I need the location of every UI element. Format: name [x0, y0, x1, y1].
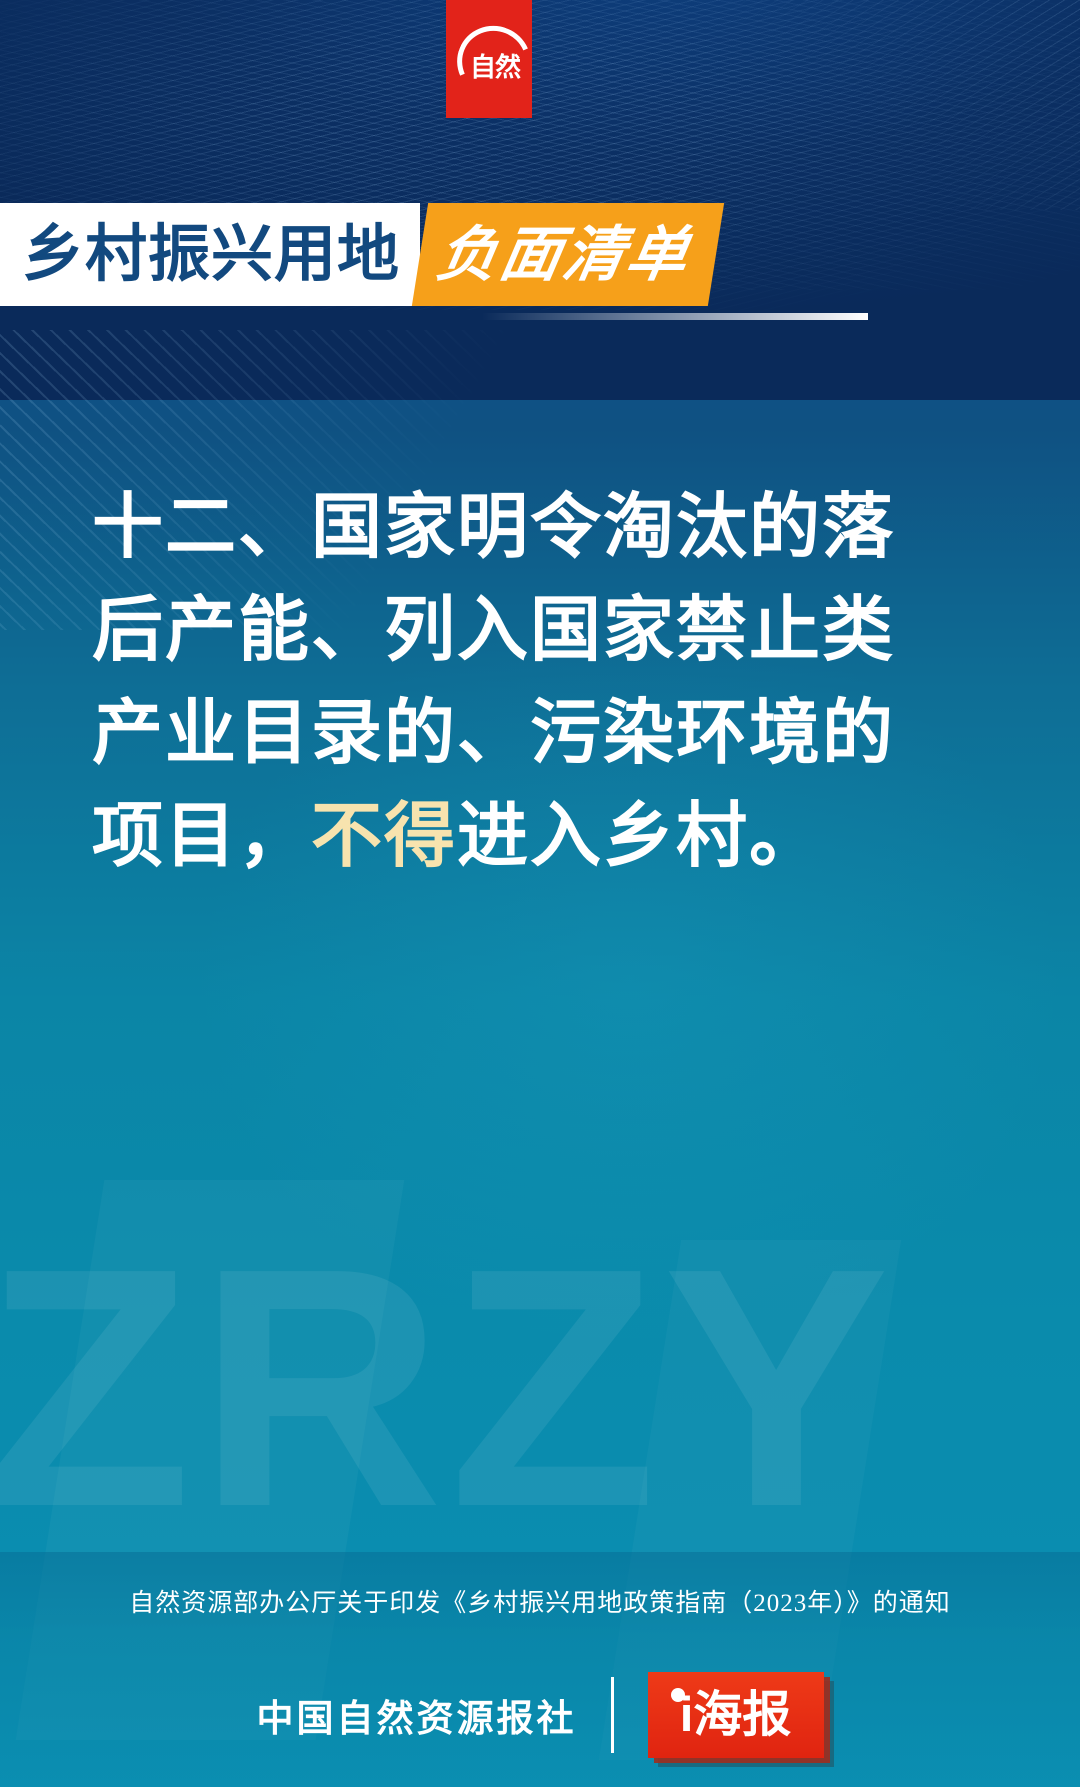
body-line-4-highlight: 不得	[311, 797, 457, 876]
i-ziran-logo: i 自然	[446, 0, 532, 118]
title-accent-block: 负面清单	[412, 203, 724, 306]
hatch-texture-top-right	[700, 0, 1080, 210]
body-line-4-post: 进入乡村。	[457, 797, 822, 876]
title-accent-text: 负面清单	[433, 225, 696, 285]
body-paragraph: 十二、国家明令淘汰的落 后产能、列入国家禁止类 产业目录的、污染环境的 项目，不…	[92, 476, 942, 888]
zrzy-watermark: ZRZY	[0, 1218, 1080, 1558]
title-main-text: 乡村振兴用地	[22, 224, 400, 286]
logo-globe-dot-icon	[671, 1688, 685, 1702]
body-line-4: 项目，不得进入乡村。	[92, 785, 942, 888]
poster-title: 乡村振兴用地 负面清单	[0, 203, 708, 306]
body-line-2: 后产能、列入国家禁止类	[92, 579, 942, 682]
logo-red-box: i海报	[648, 1672, 824, 1758]
i-haibao-logo: i海报	[648, 1672, 824, 1758]
body-line-3: 产业目录的、污染环境的	[92, 682, 942, 785]
logo-haibao-text: i海报	[680, 1691, 792, 1740]
source-caption: 自然资源部办公厅关于印发《乡村振兴用地政策指南（2023年）》的通知	[0, 1583, 1080, 1619]
publisher-name: 中国自然资源报社	[257, 1688, 577, 1742]
body-line-1: 十二、国家明令淘汰的落	[92, 476, 942, 579]
brand-divider	[611, 1677, 614, 1753]
footer-brand-row: 中国自然资源报社 i海报	[0, 1672, 1080, 1758]
title-underline-bar	[482, 313, 868, 320]
logo-i-char: i	[458, 55, 461, 70]
body-line-4-pre: 项目，	[92, 797, 311, 876]
title-main-block: 乡村振兴用地	[0, 203, 420, 306]
logo-ziran-text: 自然	[470, 54, 520, 80]
poster-canvas: ZRZY i 自然 乡村振兴用地 负面清单 十二、国家明令淘汰的落 后产能、列入…	[0, 0, 1080, 1787]
